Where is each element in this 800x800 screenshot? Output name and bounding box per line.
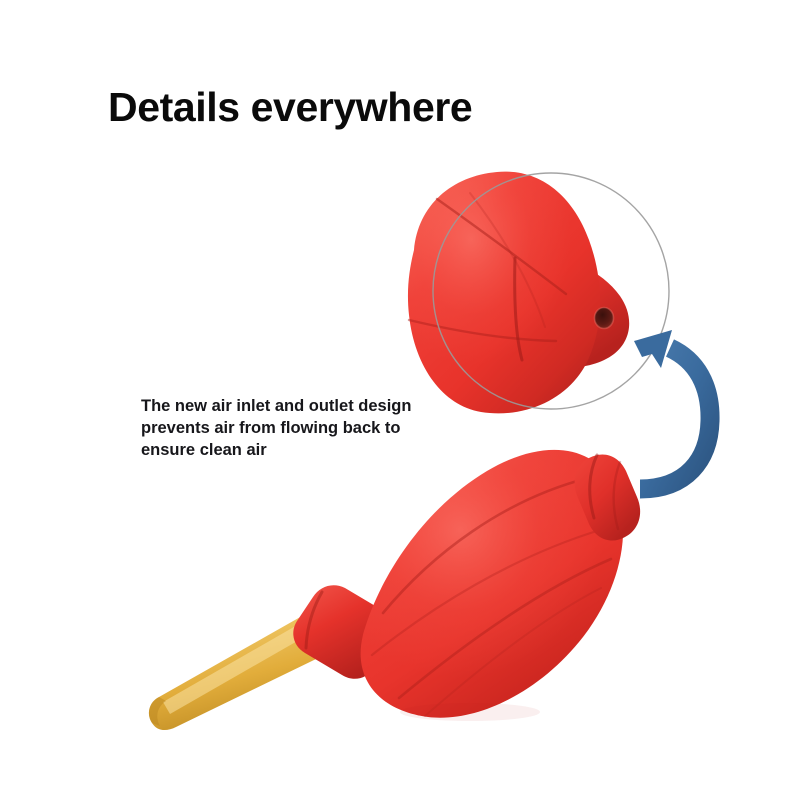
nozzle-highlight <box>163 608 334 714</box>
bulb-seam-lower <box>399 559 611 698</box>
front-collar <box>293 585 393 679</box>
caption-line-3: ensure clean air <box>141 440 471 462</box>
magnified-rear-cap <box>502 255 629 368</box>
rear-cap <box>575 454 641 540</box>
bulb-seam-upper <box>383 478 588 613</box>
callout-arrow <box>634 330 710 489</box>
callout-arrow-head <box>634 330 672 368</box>
magnifier-circle-outline <box>433 173 669 409</box>
yellow-nozzle <box>149 603 349 730</box>
rubber-bulb-highlight <box>361 450 624 718</box>
callout-arrow-body <box>640 348 710 489</box>
magnified-seam-line-lower <box>409 320 556 341</box>
magnifier-inset <box>408 172 669 414</box>
caption-line-1: The new air inlet and outlet design <box>141 396 471 418</box>
magnified-bulb-body <box>408 172 600 414</box>
magnified-seam-line-upper <box>437 199 566 294</box>
rear-cap-ridge-1 <box>590 455 597 518</box>
rear-cap-ridge-2 <box>614 462 620 529</box>
front-collar-rim <box>306 592 322 648</box>
bulb-seam-edge <box>425 588 601 716</box>
bulb-contact-shadow <box>400 703 540 721</box>
caption-line-2: prevents air from flowing back to <box>141 418 471 440</box>
main-product <box>149 450 640 730</box>
magnified-cap-rim <box>515 258 522 360</box>
magnified-seam-line-mid <box>470 193 545 327</box>
air-inlet-hole-magnified <box>595 308 614 329</box>
magnified-bulb-highlight <box>408 172 600 414</box>
feature-caption: The new air inlet and outlet design prev… <box>141 396 471 462</box>
magnified-bulb-detail <box>408 172 629 414</box>
air-inlet-hole-rim <box>595 308 614 329</box>
nozzle-tip-shadow <box>149 697 166 726</box>
bulb-seam-center <box>372 530 600 655</box>
rubber-bulb <box>361 450 624 718</box>
page-title: Details everywhere <box>108 84 472 131</box>
product-detail-graphic: Details everywhere The new air inlet and… <box>0 0 800 800</box>
